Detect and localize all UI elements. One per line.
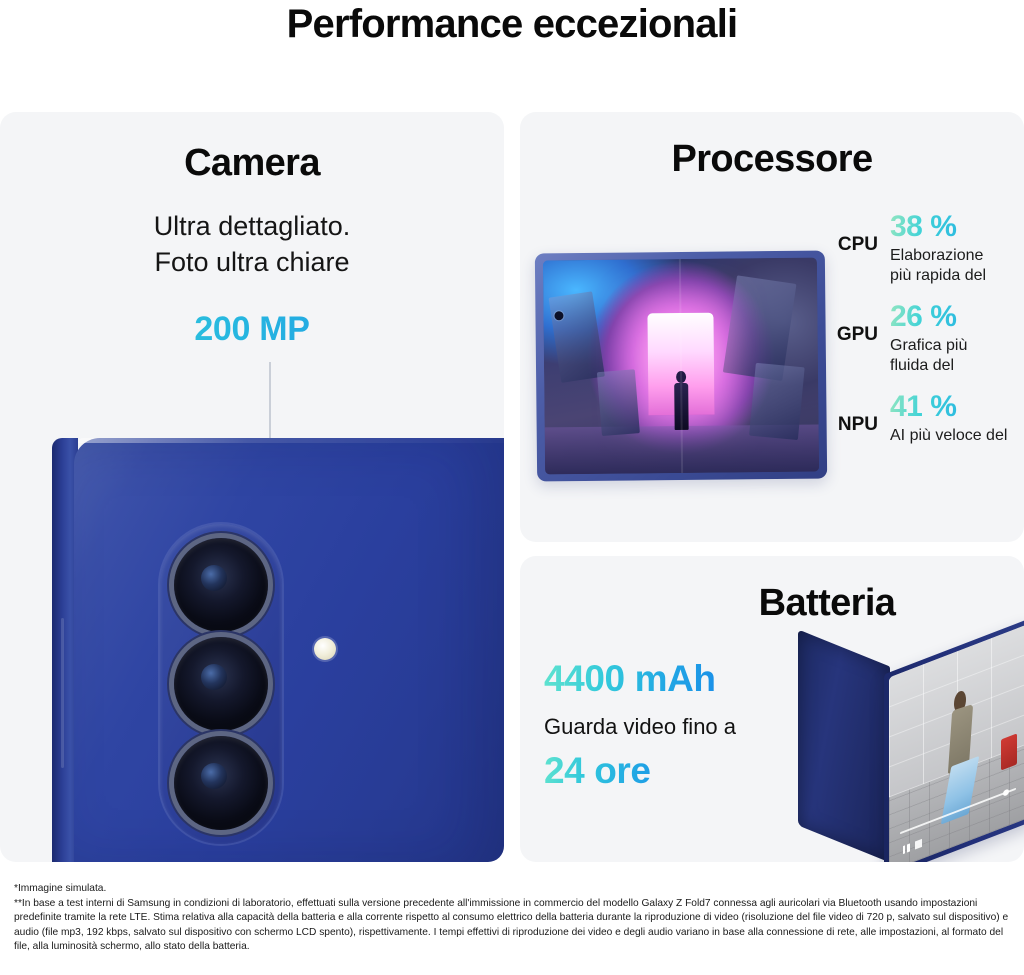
stat-description-cpu: Elaborazione più rapida del (890, 246, 1024, 286)
processor-stats-list: CPU 38 % Elaborazione più rapida del GPU… (820, 210, 1024, 460)
footnote-line-1: *Immagine simulata. (14, 882, 1014, 896)
stat-desc-cpu-line-1: Elaborazione (890, 246, 1024, 266)
stat-body-cpu: 38 % Elaborazione più rapida del (878, 210, 1024, 286)
camera-lens-3 (174, 736, 268, 830)
tent-right-panel (884, 618, 1024, 862)
game-rock-1 (548, 292, 604, 383)
stat-value-gpu: 26 % (890, 300, 1024, 334)
stat-label-npu: NPU (820, 390, 878, 436)
stat-description-npu: AI più veloce del (890, 426, 1024, 446)
stat-desc-gpu-line-1: Grafica più (890, 336, 1024, 356)
camera-subtitle-line-2: Foto ultra chiare (0, 244, 504, 280)
device-screen (543, 258, 819, 475)
stat-row-gpu: GPU 26 % Grafica più fluida del (820, 300, 1024, 376)
phone-edge-highlight (78, 438, 504, 443)
camera-subtitle-line-1: Ultra dettagliato. (0, 208, 504, 244)
battery-duration-value: 24 ore (544, 750, 651, 792)
stat-value-npu: 41 % (890, 390, 1024, 424)
camera-island (160, 524, 282, 844)
promo-page: Performance eccezionali Camera Ultra det… (0, 0, 1024, 975)
processor-device-image (535, 250, 827, 481)
processor-card: Processore CPU 38 % (520, 112, 1024, 542)
page-title: Performance eccezionali (0, 0, 1024, 100)
camera-lens-2 (174, 637, 268, 731)
stat-desc-npu-line-1: AI più veloce del (890, 426, 1024, 446)
stat-row-cpu: CPU 38 % Elaborazione più rapida del (820, 210, 1024, 286)
camera-card-subtitle: Ultra dettagliato. Foto ultra chiare (0, 208, 504, 280)
footnotes: *Immagine simulata. **In base a test int… (14, 882, 1014, 955)
camera-card-title: Camera (0, 142, 504, 185)
stat-desc-gpu-line-2: fluida del (890, 356, 1024, 376)
battery-card: Batteria 4400 mAh Guarda video fino a 24… (520, 556, 1024, 862)
battery-capacity-value: 4400 mAh (544, 658, 716, 700)
stat-label-cpu: CPU (820, 210, 878, 256)
stat-value-cpu: 38 % (890, 210, 1024, 244)
stat-label-gpu: GPU (820, 300, 878, 346)
camera-phone-image (52, 420, 504, 862)
game-rock-3 (597, 369, 640, 436)
stat-desc-cpu-line-2: più rapida del (890, 266, 1024, 286)
tent-left-panel (798, 629, 890, 862)
battery-device-image (780, 616, 1024, 862)
stat-description-gpu: Grafica più fluida del (890, 336, 1024, 376)
footnote-line-2: **In base a test interni di Samsung in c… (14, 897, 1014, 954)
camera-flash-icon (314, 638, 336, 660)
battery-subtitle: Guarda video fino a (544, 714, 736, 740)
phone-rear-body (74, 438, 504, 862)
game-rock-4 (749, 363, 805, 440)
video-suitcase (1001, 733, 1018, 770)
stat-body-gpu: 26 % Grafica più fluida del (878, 300, 1024, 376)
camera-megapixel-value: 200 MP (0, 310, 504, 349)
stat-body-npu: 41 % AI più veloce del (878, 390, 1024, 446)
camera-lens-1 (174, 538, 268, 632)
camera-card: Camera Ultra dettagliato. Foto ultra chi… (0, 112, 504, 862)
tent-screen (889, 625, 1024, 862)
stat-row-npu: NPU 41 % AI più veloce del (820, 390, 1024, 446)
processor-card-title: Processore (520, 138, 1024, 181)
